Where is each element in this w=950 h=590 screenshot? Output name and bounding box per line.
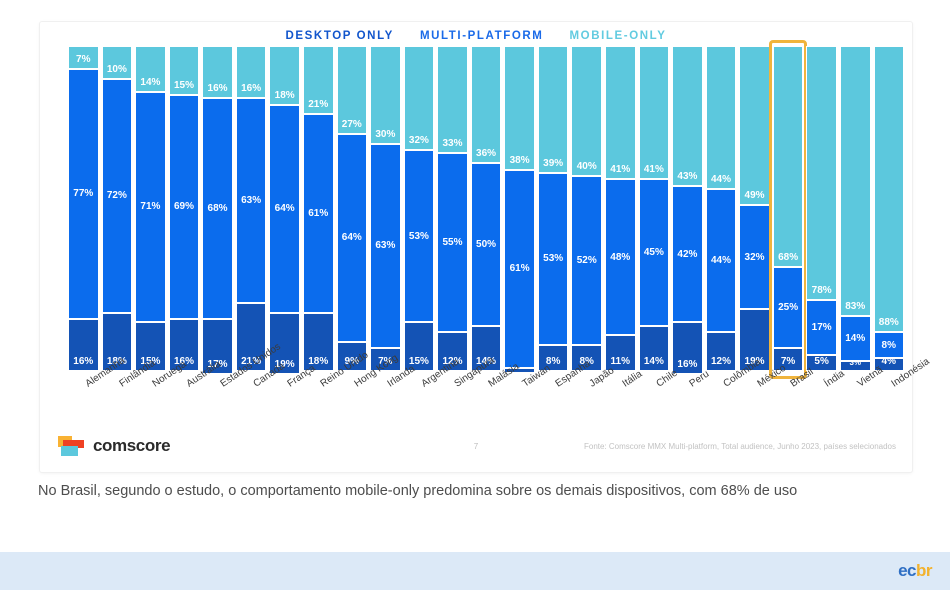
bar-column[interactable]: 39%53%8%	[538, 46, 569, 371]
x-axis-label-cell: Espanha	[538, 374, 569, 434]
bar-segment-multi: 64%	[337, 134, 368, 342]
bar-column[interactable]: 16%68%17%	[202, 46, 233, 371]
bar-segment-multi: 55%	[437, 153, 468, 332]
bar-column[interactable]: 40%52%8%	[571, 46, 602, 371]
bar-column[interactable]: 7%77%16%	[68, 46, 99, 371]
bar-segment-mobile: 16%	[236, 46, 267, 98]
bar-segment-value: 64%	[342, 232, 362, 243]
bar-segment-multi: 63%	[370, 144, 401, 349]
bar-column[interactable]: 18%64%19%	[269, 46, 300, 371]
bar-segment-value: 14%	[845, 333, 865, 344]
bar-segment-multi: 50%	[471, 163, 502, 326]
bar-segment-multi: 44%	[706, 189, 737, 332]
bar-segment-value: 71%	[140, 201, 160, 212]
bar-segment-mobile: 78%	[806, 46, 837, 300]
bar-column[interactable]: 38%61%1%	[504, 46, 535, 371]
bar-segment-multi: 63%	[236, 98, 267, 303]
bar-column[interactable]: 21%61%18%	[303, 46, 334, 371]
bar-segment-mobile: 14%	[135, 46, 166, 92]
bar-segment-mobile: 43%	[672, 46, 703, 186]
bar-column[interactable]: 44%44%12%	[706, 46, 737, 371]
bar-segment-value: 52%	[577, 255, 597, 266]
bar-column[interactable]: 88%8%4%	[874, 46, 905, 371]
bar-segment-value: 61%	[308, 208, 328, 219]
bottom-bar: ecbr	[0, 552, 950, 590]
bar-column[interactable]: 41%48%11%	[605, 46, 636, 371]
bar-segment-value: 32%	[745, 252, 765, 263]
bar-segment-value: 15%	[174, 80, 194, 91]
bar-column[interactable]: 32%53%15%	[404, 46, 435, 371]
bar-segment-multi: 17%	[806, 300, 837, 355]
x-axis-label-cell: Indonésia	[874, 374, 905, 434]
bar-segment-value: 49%	[745, 190, 765, 201]
bar-segment-value: 21%	[308, 99, 328, 110]
bar-column[interactable]: 10%72%18%	[102, 46, 133, 371]
bar-column[interactable]: 16%63%21%	[236, 46, 267, 371]
bar-segment-value: 18%	[275, 90, 295, 101]
bar-segment-value: 7%	[76, 54, 90, 65]
bar-segment-mobile: 15%	[169, 46, 200, 95]
bar-segment-desktop: 18%	[303, 313, 334, 372]
bar-segment-mobile: 40%	[571, 46, 602, 176]
bar-segment-value: 50%	[476, 239, 496, 250]
bar-segment-multi: 53%	[538, 173, 569, 345]
bar-segment-value: 39%	[543, 158, 563, 169]
x-axis-labels: AlemanhaFinlândiaNoruegaAustráliaEstados…	[68, 374, 904, 434]
bar-column[interactable]: 83%14%3%	[840, 46, 871, 371]
ecbr-logo-part1: ec	[898, 561, 916, 580]
bar-segment-value: 14%	[140, 77, 160, 88]
bar-segment-mobile: 83%	[840, 46, 871, 316]
bar-segment-value: 63%	[241, 195, 261, 206]
bar-segment-multi: 72%	[102, 79, 133, 313]
bar-segment-mobile: 44%	[706, 46, 737, 189]
x-axis-label-cell: Finlândia	[102, 374, 133, 434]
bar-segment-value: 12%	[711, 356, 731, 367]
bar-segment-mobile: 18%	[269, 46, 300, 105]
bar-segment-value: 38%	[510, 155, 530, 166]
ecbr-logo-part2: br	[916, 561, 932, 580]
bar-segment-value: 53%	[543, 253, 563, 264]
bar-segment-value: 63%	[375, 240, 395, 251]
bar-segment-value: 11%	[611, 356, 630, 367]
bar-segment-value: 77%	[73, 188, 93, 199]
bar-segment-value: 32%	[409, 135, 429, 146]
bar-segment-value: 44%	[711, 255, 731, 266]
bar-segment-mobile: 38%	[504, 46, 535, 170]
chart-legend: DESKTOP ONLY MULTI-PLATFORM MOBILE-ONLY	[40, 30, 912, 42]
bar-segment-mobile: 49%	[739, 46, 770, 205]
bar-segment-desktop: 12%	[706, 332, 737, 371]
x-axis-label-cell: Argentina	[404, 374, 435, 434]
x-axis-label-cell: Irlanda	[370, 374, 401, 434]
x-axis-label-cell: Itália	[605, 374, 636, 434]
bar-segment-mobile: 33%	[437, 46, 468, 153]
bar-segment-mobile: 21%	[303, 46, 334, 114]
bar-segment-desktop: 16%	[68, 319, 99, 371]
x-axis-label-cell: Singapura	[437, 374, 468, 434]
bar-segment-value: 78%	[812, 285, 832, 296]
comscore-wordmark: comscore	[93, 436, 170, 456]
x-axis-label-cell: Peru	[672, 374, 703, 434]
bar-segment-mobile: 41%	[639, 46, 670, 179]
bar-segment-multi: 61%	[303, 114, 334, 312]
bar-segment-multi: 71%	[135, 92, 166, 323]
bar-segment-mobile: 32%	[404, 46, 435, 150]
bar-segment-multi: 64%	[269, 105, 300, 313]
bar-segment-multi: 61%	[504, 170, 535, 368]
x-axis-label-cell: Austrália	[169, 374, 200, 434]
x-axis-label-cell: Hong Kong	[337, 374, 368, 434]
comscore-logo: comscore	[58, 436, 170, 456]
source-note: Fonte: Comscore MMX Multi-platform, Tota…	[584, 442, 896, 451]
bar-segment-mobile: 27%	[337, 46, 368, 134]
bar-segment-multi: 52%	[571, 176, 602, 345]
x-axis-label-cell: Malásia	[471, 374, 502, 434]
legend-item-desktop-only: DESKTOP ONLY	[285, 30, 393, 42]
bar-segment-value: 64%	[275, 203, 295, 214]
bar-column[interactable]: 43%42%16%	[672, 46, 703, 371]
x-axis-label-cell: Colômbia	[706, 374, 737, 434]
bar-segment-value: 68%	[778, 252, 798, 263]
bar-segment-value: 16%	[208, 83, 228, 94]
bar-segment-mobile: 39%	[538, 46, 569, 173]
bar-column[interactable]: 49%32%19%	[739, 46, 770, 371]
bar-segment-value: 16%	[677, 359, 697, 370]
bar-segment-desktop: 14%	[639, 326, 670, 372]
bar-segment-multi: 25%	[773, 267, 804, 348]
x-axis-label-cell: Canadá	[236, 374, 267, 434]
slide-root: DESKTOP ONLY MULTI-PLATFORM MOBILE-ONLY …	[0, 0, 950, 590]
bar-segment-mobile: 30%	[370, 46, 401, 144]
ecbr-logo: ecbr	[898, 561, 932, 581]
bar-segment-value: 14%	[644, 356, 664, 367]
bar-segment-multi: 68%	[202, 98, 233, 319]
stacked-bar-plot-area: 7%77%16%10%72%18%14%71%15%15%69%16%16%68…	[68, 46, 904, 371]
bar-segment-value: 8%	[882, 340, 896, 351]
bar-segment-value: 61%	[510, 263, 530, 274]
bar-segment-value: 42%	[677, 249, 697, 260]
bar-segment-mobile: 16%	[202, 46, 233, 98]
legend-item-mobile-only: MOBILE-ONLY	[569, 30, 666, 42]
bar-segment-mobile: 41%	[605, 46, 636, 179]
bar-segment-value: 30%	[375, 129, 395, 140]
bar-column[interactable]: 27%64%9%	[337, 46, 368, 371]
x-axis-label-cell: México	[739, 374, 770, 434]
bar-segment-multi: 42%	[672, 186, 703, 323]
x-axis-label-cell: Reino Unido	[303, 374, 334, 434]
slide-caption: No Brasil, segundo o estudo, o comportam…	[38, 482, 858, 502]
x-axis-label-cell: Brasil	[773, 374, 804, 434]
bar-segment-mobile: 88%	[874, 46, 905, 332]
bar-segment-value: 83%	[845, 301, 865, 312]
x-axis-label-cell: Estados Unidos	[202, 374, 233, 434]
bar-segment-mobile: 68%	[773, 46, 804, 267]
bar-segment-mobile: 10%	[102, 46, 133, 79]
bar-segment-value: 72%	[107, 190, 127, 201]
legend-item-multi-platform: MULTI-PLATFORM	[420, 30, 544, 42]
bar-segment-multi: 77%	[68, 69, 99, 319]
bar-segment-desktop: 16%	[672, 322, 703, 374]
x-axis-label-cell: Índia	[806, 374, 837, 434]
bar-segment-value: 40%	[577, 161, 597, 172]
bar-segment-value: 25%	[778, 302, 798, 313]
bar-segment-value: 69%	[174, 201, 194, 212]
bar-column[interactable]: 36%50%14%	[471, 46, 502, 371]
bar-segment-value: 88%	[879, 317, 899, 328]
x-axis-label-cell: Noruega	[135, 374, 166, 434]
bar-segment-value: 36%	[476, 148, 496, 159]
page-number: 7	[474, 442, 478, 451]
bar-column[interactable]: 30%63%7%	[370, 46, 401, 371]
bar-segment-value: 16%	[241, 83, 261, 94]
x-axis-label-cell: Chile	[639, 374, 670, 434]
bar-segment-multi: 32%	[739, 205, 770, 309]
bar-segment-value: 44%	[711, 174, 731, 185]
bar-segment-multi: 45%	[639, 179, 670, 325]
bar-segment-value: 4%	[882, 358, 896, 367]
x-axis-label-cell: Taiwan	[504, 374, 535, 434]
bar-segment-value: 5%	[814, 356, 828, 367]
bar-column[interactable]: 78%17%5%	[806, 46, 837, 371]
bar-segment-value: 48%	[610, 252, 630, 263]
bar-column[interactable]: 41%45%14%	[639, 46, 670, 371]
x-axis-label-cell: Alemanha	[68, 374, 99, 434]
bar-segment-multi: 69%	[169, 95, 200, 319]
bar-segment-value: 53%	[409, 231, 429, 242]
bar-segment-multi: 53%	[404, 150, 435, 322]
bar-segment-desktop: 3%	[840, 361, 871, 371]
bar-column[interactable]: 14%71%15%	[135, 46, 166, 371]
bar-column[interactable]: 15%69%16%	[169, 46, 200, 371]
x-axis-label-cell: Vietnã	[840, 374, 871, 434]
chart-footer: comscore 7 Fonte: Comscore MMX Multi-pla…	[40, 428, 912, 472]
bar-segment-value: 17%	[812, 322, 832, 333]
bar-segment-value: 27%	[342, 119, 362, 130]
bar-segment-multi: 48%	[605, 179, 636, 335]
bar-segment-value: 41%	[644, 164, 664, 175]
bar-segment-value: 3%	[849, 361, 861, 367]
bar-segment-value: 41%	[610, 164, 630, 175]
x-axis-label-cell: Japão	[571, 374, 602, 434]
bar-segment-multi: 8%	[874, 332, 905, 358]
bar-segment-mobile: 7%	[68, 46, 99, 69]
bar-segment-value: 43%	[677, 171, 697, 182]
bar-segment-value: 45%	[644, 247, 664, 258]
bar-column[interactable]: 68%25%7%	[773, 46, 804, 371]
x-axis-label-cell: França	[269, 374, 300, 434]
bar-segment-value: 33%	[442, 138, 462, 149]
chart-slide-card: DESKTOP ONLY MULTI-PLATFORM MOBILE-ONLY …	[40, 22, 912, 472]
bar-segment-multi: 14%	[840, 316, 871, 362]
comscore-mark-icon	[58, 436, 84, 456]
bar-segment-value: 10%	[107, 64, 127, 75]
bar-segment-value: 68%	[208, 203, 228, 214]
bar-segment-value: 16%	[73, 356, 93, 367]
bar-segment-mobile: 36%	[471, 46, 502, 163]
bar-column[interactable]: 33%55%12%	[437, 46, 468, 371]
bar-segment-value: 55%	[442, 237, 462, 248]
